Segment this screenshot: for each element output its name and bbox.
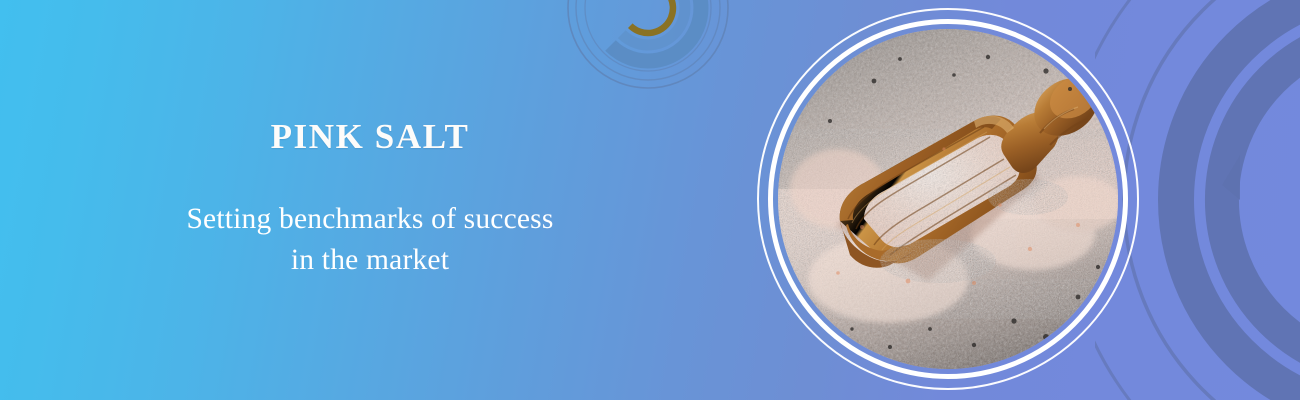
- product-photo-circle: [757, 8, 1139, 390]
- banner-subtitle: Setting benchmarks of success in the mar…: [60, 157, 680, 283]
- pink-salt-illustration: [778, 29, 1118, 369]
- pink-salt-scoop-image: [778, 29, 1118, 369]
- pink-salt-banner: PINK SALT Setting benchmarks of success …: [0, 0, 1300, 400]
- banner-subtitle-line2: in the market: [291, 244, 449, 276]
- banner-subtitle-line1: Setting benchmarks of success: [186, 203, 553, 235]
- banner-text-block: PINK SALT Setting benchmarks of success …: [60, 118, 680, 282]
- page-title: PINK SALT: [60, 118, 680, 157]
